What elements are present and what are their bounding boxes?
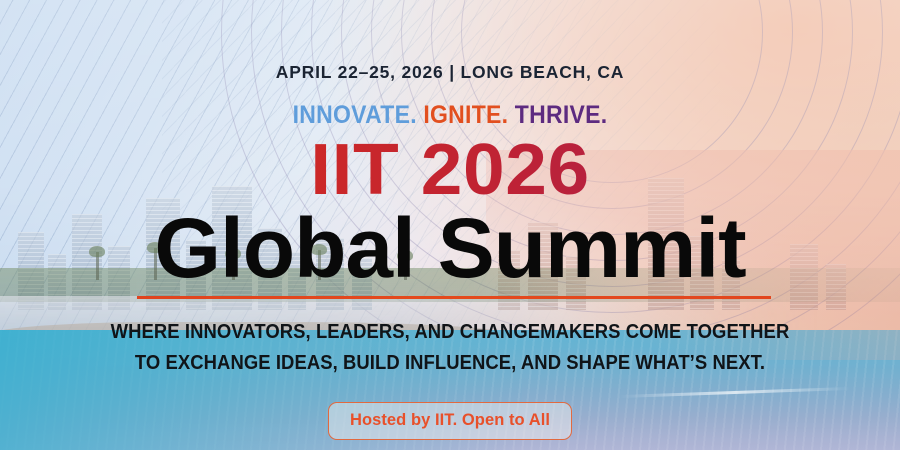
event-description-line-2: TO EXCHANGE IDEAS, BUILD INFLUENCE, AND … [45,347,855,378]
tagline-word-thrive: THRIVE. [515,103,608,128]
event-title-secondary: Global Summit [0,206,900,290]
title-divider-rule [137,296,771,299]
event-description-line-1: WHERE INNOVATORS, LEADERS, AND CHANGEMAK… [45,316,855,347]
hosted-by-badge[interactable]: Hosted by IIT. Open to All [328,402,572,440]
event-title-primary: IIT 2026 [0,134,900,206]
event-hero-banner: APRIL 22–25, 2026 | LONG BEACH, CA INNOV… [0,0,900,450]
event-description: WHERE INNOVATORS, LEADERS, AND CHANGEMAK… [45,316,855,378]
event-date-location: APRIL 22–25, 2026 | LONG BEACH, CA [0,62,900,83]
event-tagline: INNOVATE.IGNITE.THRIVE. [36,103,864,128]
tagline-word-ignite: IGNITE. [423,103,508,128]
hero-content: APRIL 22–25, 2026 | LONG BEACH, CA INNOV… [0,0,900,450]
tagline-word-innovate: INNOVATE. [293,103,417,128]
